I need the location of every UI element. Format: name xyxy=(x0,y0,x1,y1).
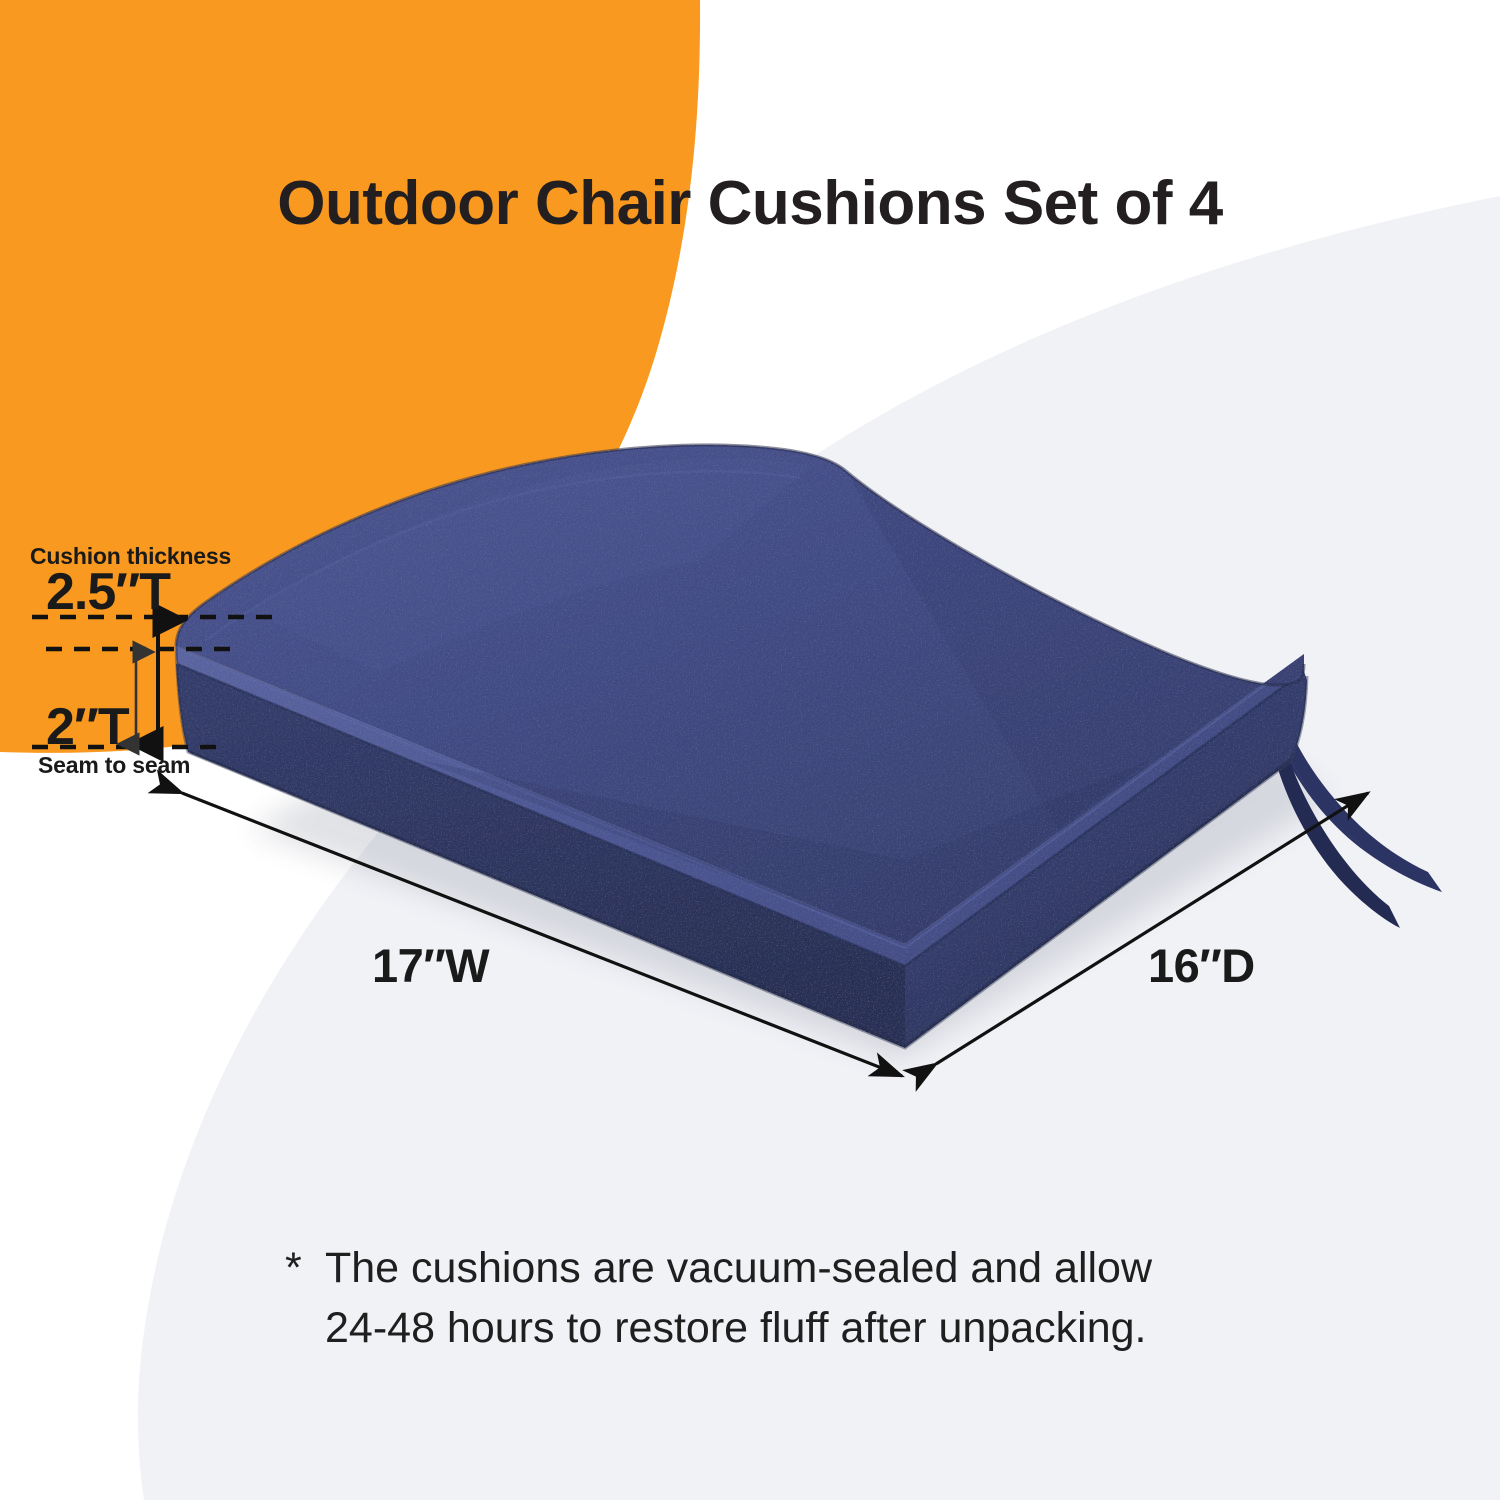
depth-arrow xyxy=(936,793,1368,1064)
footnote-line-1: The cushions are vacuum-sealed and allow xyxy=(325,1244,1152,1292)
seam-to-seam-caption: Seam to seam xyxy=(38,752,190,779)
page-title: Outdoor Chair Cushions Set of 4 xyxy=(0,168,1500,239)
footnote: *The cushions are vacuum-sealed and allo… xyxy=(285,1238,1285,1358)
width-dimension-value: 17″W xyxy=(372,938,489,993)
width-arrow xyxy=(182,793,902,1076)
product-infographic: Outdoor Chair Cushions Set of 4 xyxy=(0,0,1500,1500)
depth-dimension-value: 16″D xyxy=(1148,938,1255,993)
thickness-seam-value: 2″T xyxy=(46,697,129,757)
footnote-line-2: 24-48 hours to restore fluff after unpac… xyxy=(285,1298,1285,1358)
thickness-total-value: 2.5″T xyxy=(46,562,170,622)
footnote-marker: * xyxy=(285,1238,325,1298)
